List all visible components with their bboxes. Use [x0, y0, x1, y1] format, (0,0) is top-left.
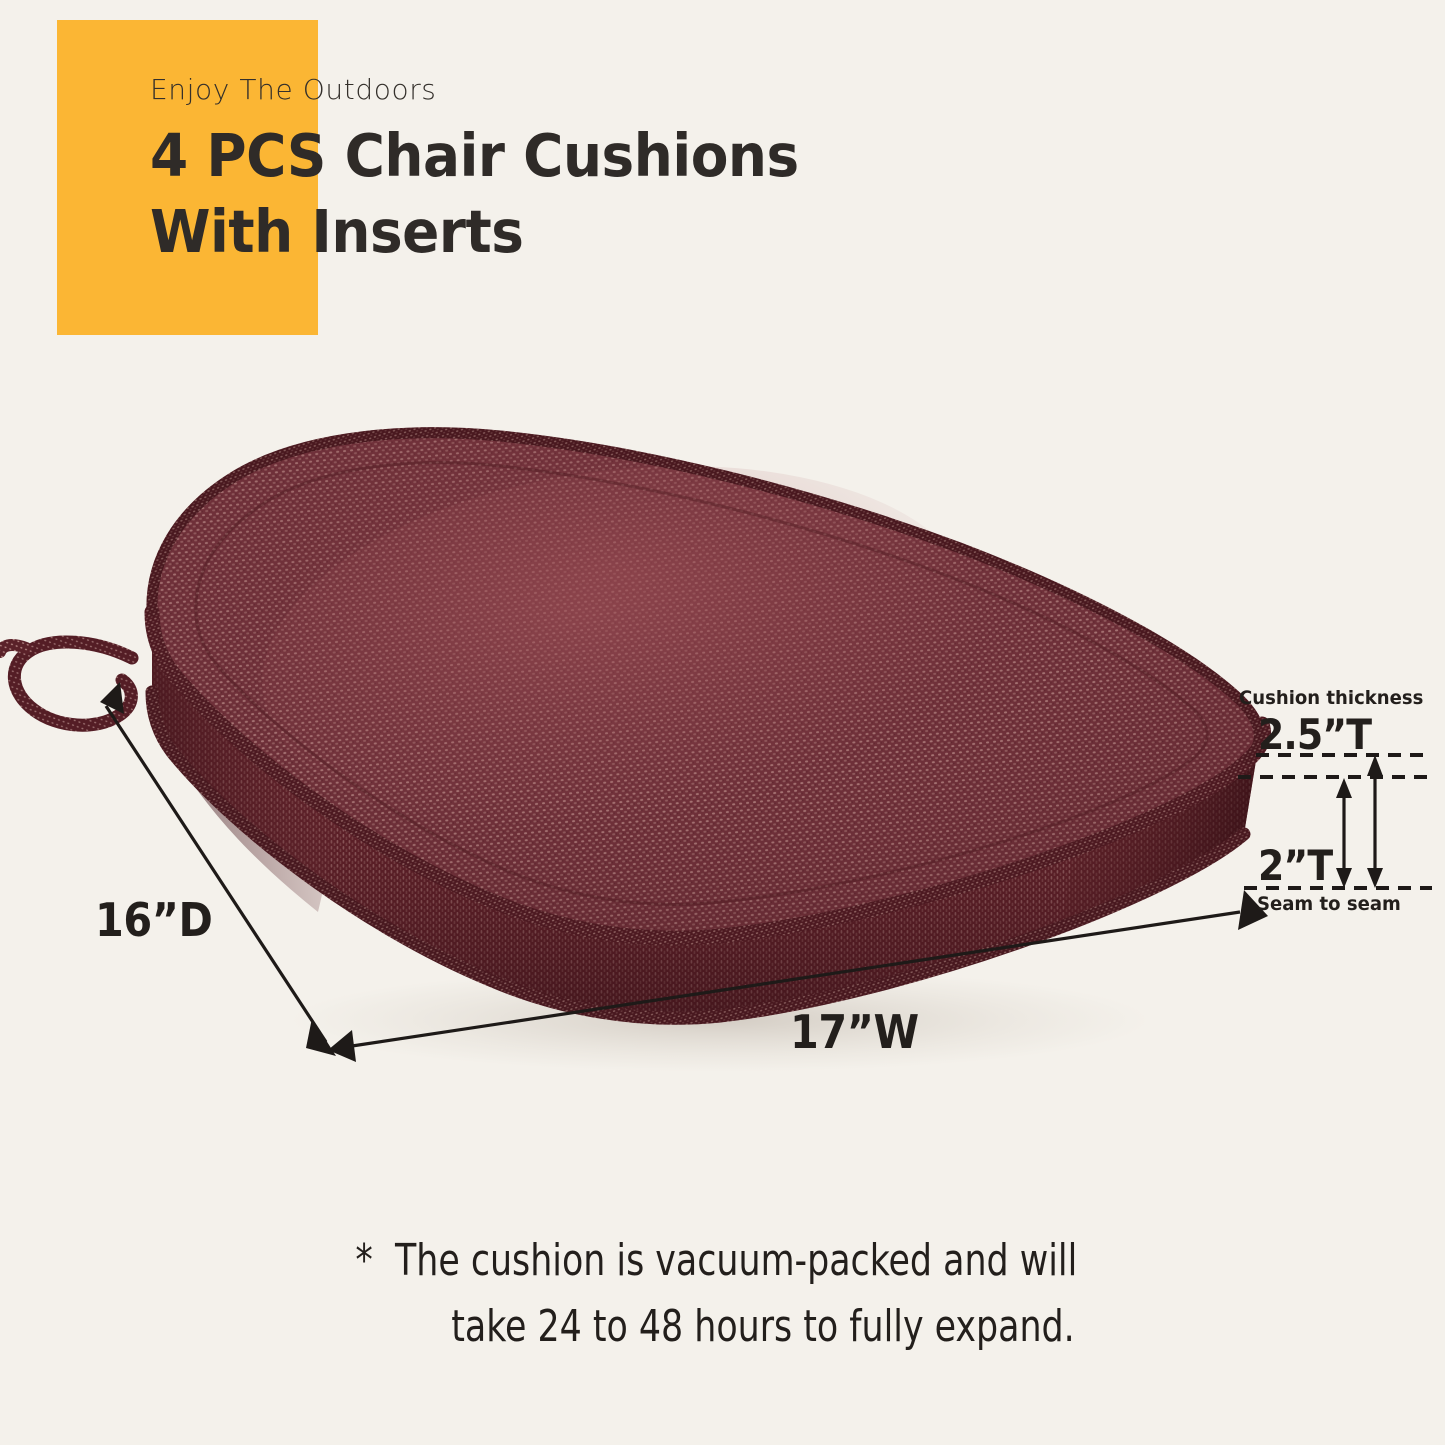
seam-to-seam-caption: Seam to seam — [1257, 893, 1401, 915]
thickness-full-arrow — [1367, 755, 1383, 888]
cushion-thickness-caption: Cushion thickness — [1239, 687, 1423, 709]
seam-thickness-value: 2”T — [1258, 841, 1332, 890]
footnote-block: * The cushion is vacuum-packed and will … — [0, 1228, 1445, 1360]
footnote-line-2: take 24 to 48 hours to fully expand. — [87, 1294, 1359, 1360]
infographic-page: Enjoy The Outdoors 4 PCS Chair Cushions … — [0, 0, 1445, 1445]
depth-dimension-label: 16”D — [95, 893, 212, 947]
asterisk-icon: * — [355, 1235, 372, 1286]
footnote-line-1: * The cushion is vacuum-packed and will — [87, 1228, 1359, 1294]
footnote-text-1: The cushion is vacuum-packed and will — [395, 1235, 1077, 1286]
header-text-group: Enjoy The Outdoors 4 PCS Chair Cushions … — [150, 70, 1050, 270]
thickness-seam-arrow — [1336, 778, 1352, 888]
cushion-body — [152, 427, 1264, 1018]
eyebrow-text: Enjoy The Outdoors — [150, 70, 1050, 110]
cushion-thickness-value: 2.5”T — [1258, 710, 1371, 759]
width-dimension-label: 17”W — [790, 1005, 919, 1059]
headline-line-2: With Inserts — [150, 194, 987, 270]
headline-line-1: 4 PCS Chair Cushions — [150, 118, 987, 194]
